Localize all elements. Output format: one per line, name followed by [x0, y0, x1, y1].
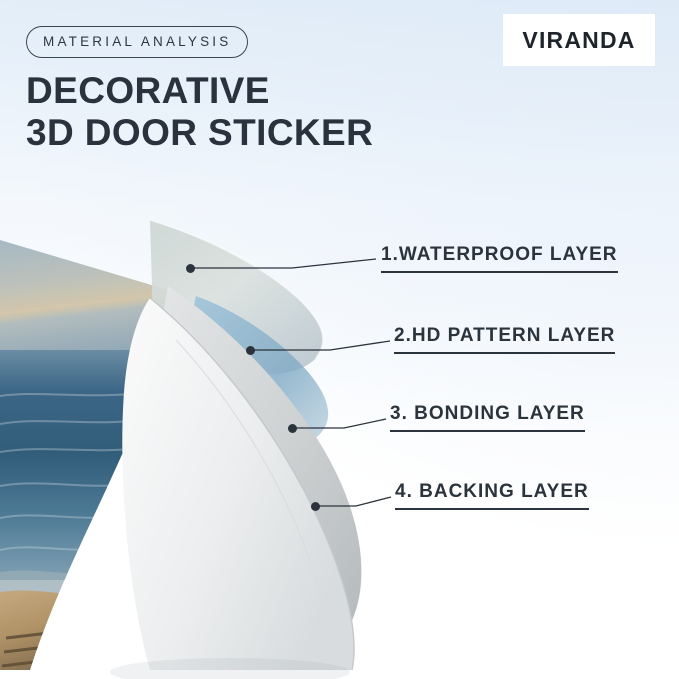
page-title-line-2: 3D DOOR STICKER — [26, 112, 373, 154]
callout-layer-2-underline — [394, 352, 615, 354]
callout-layer-1-label: 1.WATERPROOF LAYER — [381, 244, 618, 265]
callout-layer-3: 3. BONDING LAYER — [390, 403, 585, 425]
callout-layer-4-underline — [395, 508, 589, 510]
callout-layer-1: 1.WATERPROOF LAYER — [381, 244, 618, 266]
callout-dot-3 — [288, 424, 297, 433]
callout-dot-4 — [311, 502, 320, 511]
page-title-line-1: DECORATIVE — [26, 70, 270, 111]
callout-layer-1-underline — [381, 271, 618, 273]
poster-canvas: MATERIAL ANALYSIS DECORATIVE 3D DOOR STI… — [0, 0, 679, 679]
brand-logo: VIRANDA — [503, 14, 655, 66]
callout-layer-4: 4. BACKING LAYER — [395, 481, 589, 503]
sticker-illustration — [0, 200, 420, 679]
callout-dot-2 — [246, 346, 255, 355]
eyebrow-badge: MATERIAL ANALYSIS — [26, 26, 248, 58]
callout-dot-1 — [186, 264, 195, 273]
brand-logo-text: VIRANDA — [522, 27, 635, 54]
callout-layer-3-label: 3. BONDING LAYER — [390, 403, 585, 424]
callout-layer-4-label: 4. BACKING LAYER — [395, 481, 589, 502]
page-title: DECORATIVE 3D DOOR STICKER — [26, 70, 373, 154]
callout-layer-3-underline — [390, 430, 585, 432]
callout-layer-2-label: 2.HD PATTERN LAYER — [394, 325, 615, 346]
callout-layer-2: 2.HD PATTERN LAYER — [394, 325, 615, 347]
